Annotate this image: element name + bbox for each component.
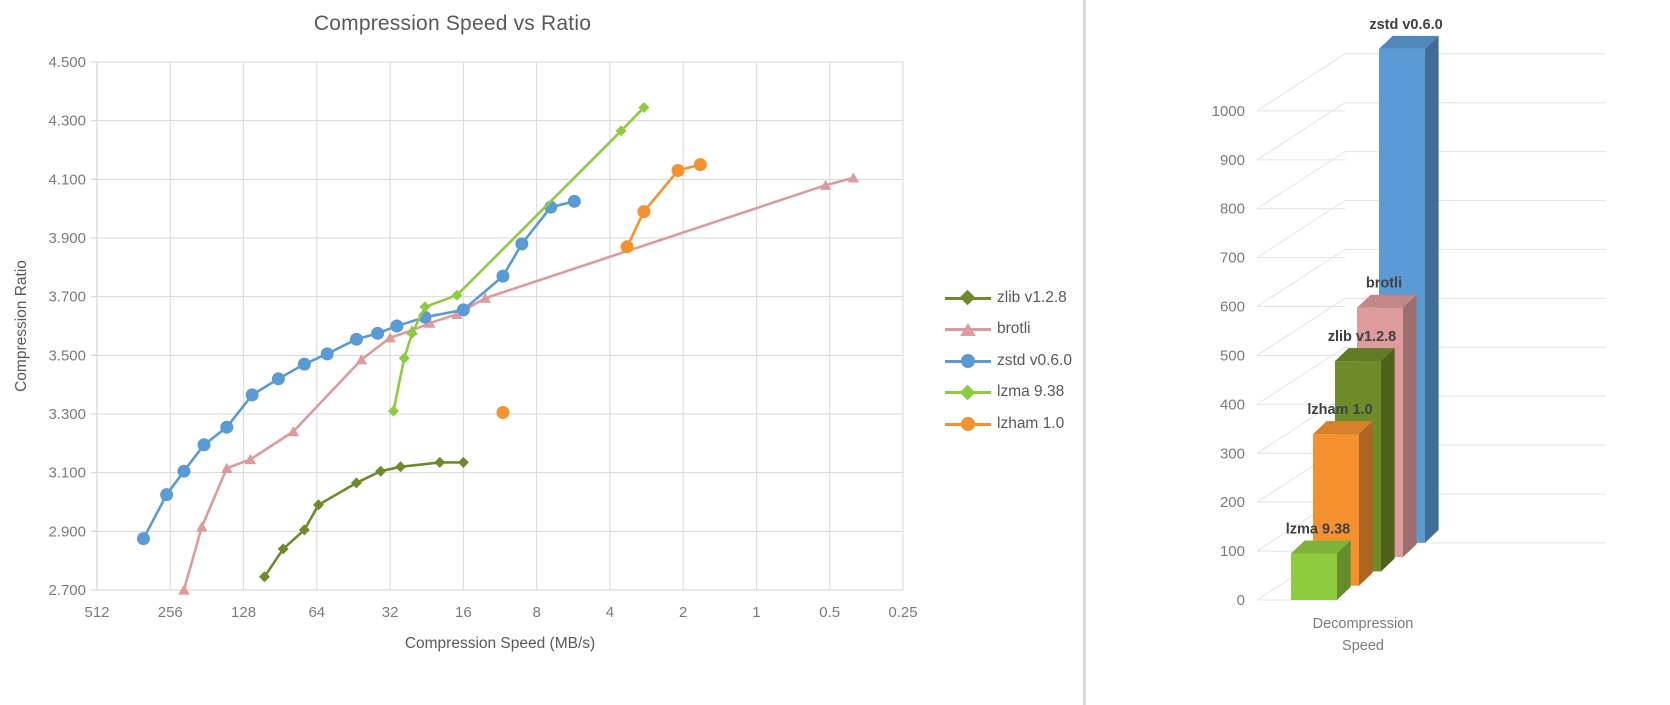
bar-side-face: [1403, 295, 1417, 557]
legend-item-label: brotli: [997, 320, 1031, 338]
data-point: [395, 461, 406, 472]
bar-front-face: [1291, 554, 1337, 600]
bar-data-label: brotli: [1366, 276, 1402, 292]
bar-side-face: [1381, 348, 1395, 571]
svg-text:2: 2: [679, 604, 687, 621]
legend-item[interactable]: zstd v0.6.0: [945, 345, 1072, 377]
svg-text:500: 500: [1220, 347, 1245, 364]
legend-item-label: zlib v1.2.8: [997, 289, 1067, 307]
legend-marker-diamond-icon: [945, 385, 991, 399]
bar-chart-svg: 01002003004005006007008009001000zstd v0.…: [1086, 0, 1670, 705]
scatter-axes: [97, 62, 903, 590]
scatter-plot-svg: 2.7002.9003.1003.3003.5003.7003.9004.100…: [0, 0, 1083, 705]
data-point: [375, 466, 386, 477]
chart-legend: zlib v1.2.8brotlizstd v0.6.0lzma 9.38lzh…: [945, 282, 1072, 440]
data-point: [694, 158, 707, 171]
scatter-series: [137, 195, 581, 545]
svg-text:3.900: 3.900: [48, 230, 86, 247]
svg-text:900: 900: [1220, 152, 1245, 169]
data-point: [196, 521, 208, 531]
data-point: [160, 488, 173, 501]
svg-text:700: 700: [1220, 250, 1245, 267]
x-axis-ticks: 51225612864321684210.50.25: [84, 604, 917, 621]
svg-text:600: 600: [1220, 299, 1245, 316]
data-point: [496, 270, 509, 283]
bar-category-label-line2: Speed: [1342, 638, 1384, 654]
data-point: [390, 320, 403, 333]
svg-text:2.900: 2.900: [48, 523, 86, 540]
svg-text:3.100: 3.100: [48, 465, 86, 482]
data-point: [457, 303, 470, 316]
y-axis-title: Compression Ratio: [13, 260, 30, 392]
svg-text:100: 100: [1220, 543, 1245, 560]
data-point: [351, 477, 362, 488]
svg-text:2.700: 2.700: [48, 582, 86, 599]
data-point: [220, 421, 233, 434]
data-point: [137, 532, 150, 545]
legend-item[interactable]: lzham 1.0: [945, 408, 1072, 440]
legend-marker-circle-icon: [945, 417, 991, 431]
svg-text:4.500: 4.500: [48, 54, 86, 71]
bar-side-face: [1425, 36, 1439, 543]
legend-marker-triangle-icon: [945, 322, 991, 336]
bar-series[interactable]: lzma 9.38: [1286, 522, 1351, 600]
svg-text:64: 64: [308, 604, 325, 621]
legend-marker-diamond-icon: [945, 291, 991, 305]
data-point: [298, 358, 311, 371]
svg-text:3.500: 3.500: [48, 347, 86, 364]
svg-text:256: 256: [158, 604, 183, 621]
data-point: [198, 438, 211, 451]
data-point: [371, 327, 384, 340]
svg-text:8: 8: [532, 604, 540, 621]
bar-data-label: zstd v0.6.0: [1369, 17, 1442, 33]
legend-item-label: lzma 9.38: [997, 383, 1064, 401]
chart-page: Compression Speed vs Ratio 2.7002.9003.1…: [0, 0, 1670, 705]
data-point: [321, 347, 334, 360]
svg-text:300: 300: [1220, 445, 1245, 462]
bar-data-label: lzham 1.0: [1307, 402, 1372, 418]
svg-text:3.300: 3.300: [48, 406, 86, 423]
svg-text:0.25: 0.25: [888, 604, 917, 621]
svg-text:1: 1: [752, 604, 760, 621]
svg-text:4: 4: [606, 604, 614, 621]
data-point: [246, 388, 259, 401]
svg-text:16: 16: [455, 604, 472, 621]
x-axis-title: Compression Speed (MB/s): [405, 635, 595, 652]
svg-text:400: 400: [1220, 396, 1245, 413]
data-point: [177, 465, 190, 478]
data-point: [637, 205, 650, 218]
data-point: [399, 353, 410, 364]
svg-text:200: 200: [1220, 494, 1245, 511]
bar-data-label: lzma 9.38: [1286, 522, 1351, 538]
legend-item[interactable]: brotli: [945, 314, 1072, 346]
legend-item-label: lzham 1.0: [997, 415, 1064, 433]
svg-text:512: 512: [84, 604, 109, 621]
bar-category-label: Decompression: [1313, 616, 1414, 632]
data-point: [313, 499, 324, 510]
scatter-chart-panel: Compression Speed vs Ratio 2.7002.9003.1…: [0, 0, 1083, 705]
data-point: [272, 372, 285, 385]
data-point: [496, 406, 509, 419]
svg-text:3.700: 3.700: [48, 289, 86, 306]
svg-text:4.100: 4.100: [48, 171, 86, 188]
legend-item-label: zstd v0.6.0: [997, 352, 1072, 370]
svg-text:0.5: 0.5: [819, 604, 840, 621]
svg-text:1000: 1000: [1212, 103, 1245, 120]
svg-text:32: 32: [382, 604, 399, 621]
bar-side-face: [1359, 421, 1373, 586]
data-point: [350, 333, 363, 346]
bar-chart-panel: 01002003004005006007008009001000zstd v0.…: [1086, 0, 1670, 705]
svg-text:128: 128: [231, 604, 256, 621]
y-axis-ticks: 2.7002.9003.1003.3003.5003.7003.9004.100…: [48, 54, 97, 599]
scatter-series: [259, 457, 469, 582]
data-point: [848, 172, 860, 182]
svg-text:800: 800: [1220, 201, 1245, 218]
data-point: [515, 237, 528, 250]
legend-item[interactable]: zlib v1.2.8: [945, 282, 1072, 314]
svg-text:4.300: 4.300: [48, 113, 86, 130]
scatter-series: [496, 158, 706, 419]
legend-item[interactable]: lzma 9.38: [945, 377, 1072, 409]
data-point: [458, 457, 469, 468]
data-point: [621, 240, 634, 253]
bar-data-label: zlib v1.2.8: [1328, 329, 1397, 345]
scatter-gridlines: [97, 62, 903, 590]
bar-y-axis-ticks: 01002003004005006007008009001000: [1212, 103, 1245, 609]
svg-text:0: 0: [1237, 592, 1245, 609]
legend-marker-circle-icon: [945, 354, 991, 368]
data-point: [420, 301, 431, 312]
data-point: [672, 164, 685, 177]
data-point: [568, 195, 581, 208]
data-point: [434, 457, 445, 468]
